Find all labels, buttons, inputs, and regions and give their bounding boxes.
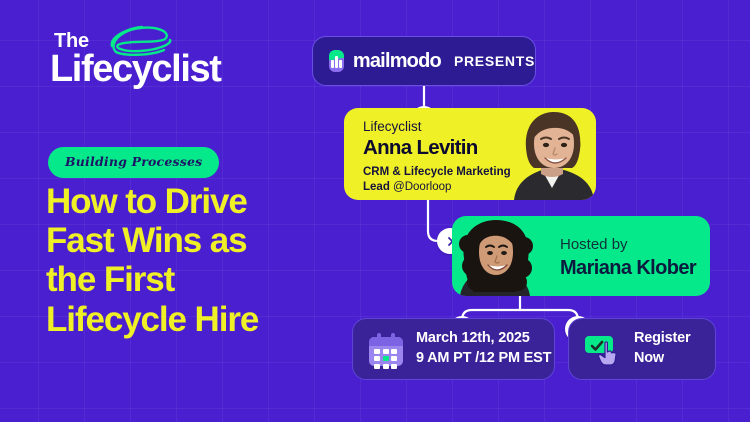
category-badge-label: Building Processes <box>65 154 202 169</box>
avatar-mariana-klober <box>452 218 538 296</box>
register-line-1: Register <box>634 329 690 349</box>
host-name: Mariana Klober <box>560 256 696 280</box>
mailmodo-logo-icon <box>329 50 344 72</box>
click-checkbox-icon <box>585 333 621 366</box>
headline-line-1: How to Drive <box>46 182 346 221</box>
speaker-role: Lifecyclist <box>363 120 523 135</box>
calendar-icon <box>369 333 403 366</box>
speaker-name: Anna Levitin <box>363 137 523 160</box>
avatar-anna-levitin <box>508 108 596 200</box>
date-card: March 12th, 2025 9 AM PT /12 PM EST <box>352 318 555 380</box>
date-card-text: March 12th, 2025 9 AM PT /12 PM EST <box>416 329 551 368</box>
host-card: Hosted by Mariana Klober <box>452 216 710 296</box>
register-line-2: Now <box>634 349 690 369</box>
presents-label: PRESENTS <box>454 53 535 69</box>
headline-line-4: Lifecycle Hire <box>46 300 346 339</box>
lifecyclist-logo: The Lifecyclist <box>48 26 268 98</box>
webinar-promo-poster: The Lifecyclist Building Processes How t… <box>0 0 750 422</box>
pointing-hand-icon <box>597 341 619 366</box>
speaker-title: CRM & Lifecycle Marketing Lead @Doorloop <box>363 165 523 194</box>
page-title: How to Drive Fast Wins as the First Life… <box>46 182 346 339</box>
mailmodo-brand-text: mailmodo <box>353 50 441 73</box>
webinar-time: 9 AM PT /12 PM EST <box>416 349 551 369</box>
headline-line-2: Fast Wins as <box>46 221 346 260</box>
presenter-bar: mailmodo PRESENTS <box>312 36 536 86</box>
register-card-text: Register Now <box>634 329 690 368</box>
register-card[interactable]: Register Now <box>568 318 716 380</box>
headline-line-3: the First <box>46 260 346 299</box>
speaker-title-company: @Doorloop <box>393 181 451 193</box>
speaker-card: Lifecyclist Anna Levitin CRM & Lifecycle… <box>344 108 596 200</box>
category-badge: Building Processes <box>48 147 219 178</box>
webinar-date: March 12th, 2025 <box>416 329 551 349</box>
logo-lifecyclist-text: Lifecyclist <box>50 50 220 88</box>
host-label: Hosted by <box>560 236 696 254</box>
